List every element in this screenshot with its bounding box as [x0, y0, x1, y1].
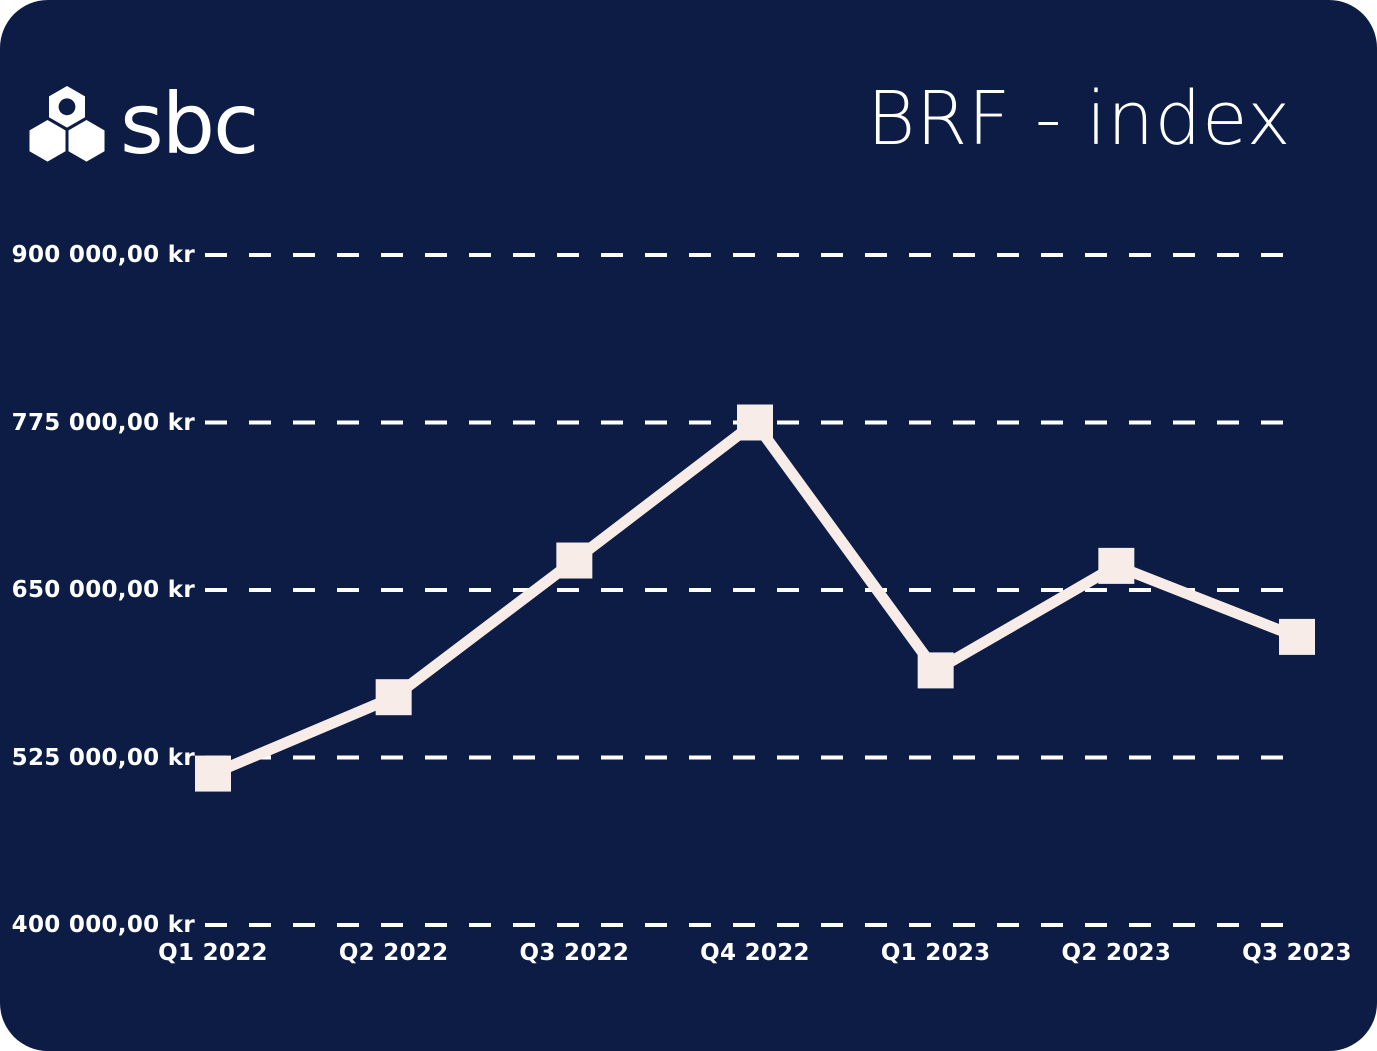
chart-svg: Q1 2022: 513 000,00 krQ2 2022: 570 000,0… [0, 0, 1377, 1051]
line-chart-plot-area: Q1 2022: 513 000,00 krQ2 2022: 570 000,0… [0, 0, 1377, 1051]
data-point-marker[interactable]: Q4 2022: 775 000,00 kr [737, 405, 773, 441]
gridlines [205, 255, 1288, 925]
data-point-marker[interactable]: Q1 2022: 513 000,00 kr [195, 756, 231, 792]
data-point-marker[interactable]: Q2 2023: 668 000,00 kr [1098, 548, 1134, 584]
data-point-markers: Q1 2022: 513 000,00 krQ2 2022: 570 000,0… [195, 405, 1315, 792]
x-axis-tick-label: Q3 2023 [1242, 940, 1352, 966]
x-axis-tick-label: Q1 2022 [158, 940, 268, 966]
y-axis-tick-label: 400 000,00 kr [12, 912, 195, 938]
x-axis-tick-label: Q1 2023 [881, 940, 991, 966]
x-axis-tick-label: Q3 2022 [519, 940, 629, 966]
x-axis-tick-label: Q2 2022 [339, 940, 449, 966]
brf-index-chart-card: sbc BRF - index Q1 2022: 513 000,00 krQ2… [0, 0, 1377, 1051]
y-axis-tick-label: 900 000,00 kr [12, 242, 195, 268]
y-axis-tick-label: 775 000,00 kr [12, 410, 195, 436]
series-line [213, 423, 1297, 774]
x-axis-tick-label: Q4 2022 [700, 940, 810, 966]
data-point-marker[interactable]: Q3 2023: 615 000,00 kr [1279, 619, 1315, 655]
data-point-marker[interactable]: Q2 2022: 570 000,00 kr [376, 679, 412, 715]
data-point-marker[interactable]: Q1 2023: 590 000,00 kr [918, 652, 954, 688]
y-axis-tick-label: 650 000,00 kr [12, 577, 195, 603]
data-point-marker[interactable]: Q3 2022: 672 000,00 kr [556, 543, 592, 579]
y-axis-tick-label: 525 000,00 kr [12, 745, 195, 771]
x-axis-tick-label: Q2 2023 [1061, 940, 1171, 966]
